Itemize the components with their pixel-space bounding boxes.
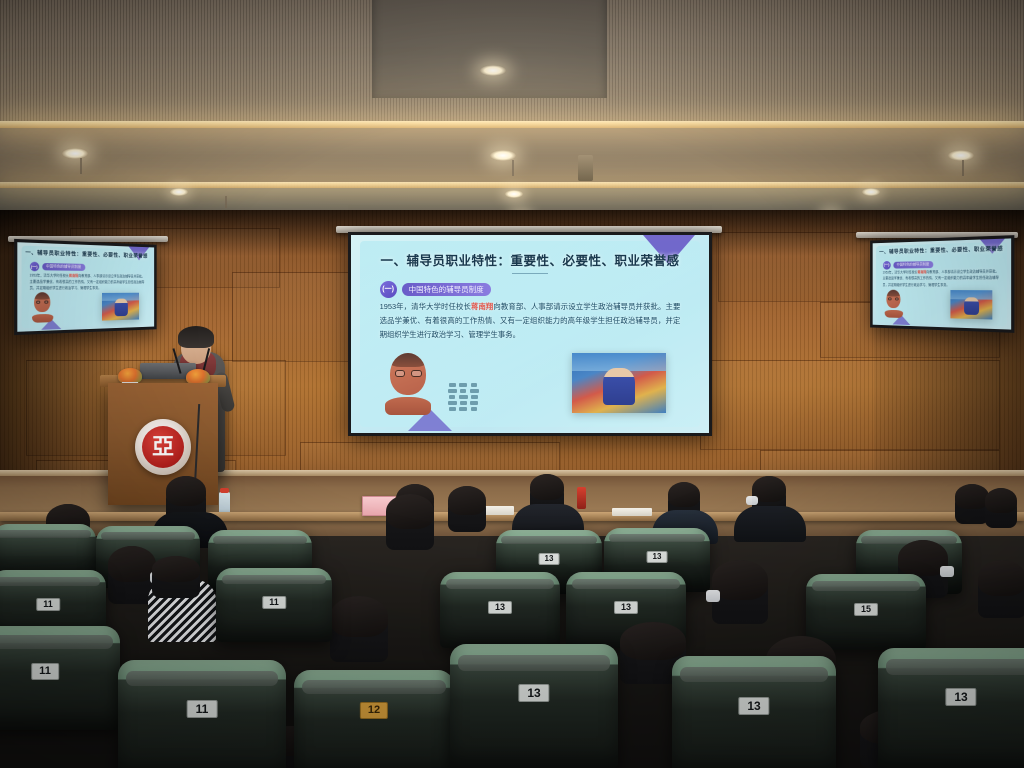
person-hair [386,494,434,529]
portrait-glasses-left [888,297,892,300]
seat-headrest [501,536,596,544]
slide-body-part1: 1953年，清华大学时任校长 [380,302,471,311]
portrait-glasses-right [44,301,49,304]
left-side-screen: 一、辅导员职业特性：重要性、必要性、职业荣誉感 (一) 中国特色的辅导员制度 1… [14,239,157,335]
portrait-head [34,293,50,313]
portrait-glasses-left [36,301,41,304]
seat-headrest [0,635,113,649]
calligraphy-column [470,383,479,411]
slide-section-number: (一) [380,281,397,298]
slide-section-label: 中国特色的辅导员制度 [402,283,491,296]
portrait-body [385,397,431,415]
slide-section-number: (一) [883,261,891,270]
slide-body-text: 1953年，清华大学时任校长蒋南翔向教育部、人事部请示设立学生政治辅导员并获批。… [380,300,681,341]
calligraphy-stroke [460,401,467,405]
audience-person [712,560,768,624]
seat-number-plate: 11 [31,663,59,680]
seat-number-plate: 12 [360,702,388,719]
calligraphy-stroke [471,395,478,399]
calligraphy-stroke [460,389,466,393]
calligraphy-column [459,383,468,411]
seat-headrest [0,530,91,538]
slide-body-part1: 1953年，清华大学时任校长 [883,271,918,275]
seat-number-plate: 13 [647,551,668,563]
slide-section-label: 中国特色的辅导员制度 [893,261,933,268]
photo-person [603,368,635,405]
portrait-hair [390,353,426,367]
audience-person [152,556,200,598]
ceiling [0,0,1024,232]
person-hair [620,622,686,660]
seat-number-plate: 13 [738,697,769,715]
slide-portrait-illustration [886,290,903,318]
seat-number-plate: 15 [854,603,878,616]
calligraphy-stroke [470,389,479,393]
audience-person [386,494,434,550]
podium-flower-left [118,368,142,384]
seat[interactable]: 13 [878,648,1024,768]
seat[interactable]: 12 [294,670,454,768]
seat-number-plate: 13 [518,684,549,702]
audience-person [955,484,989,524]
audience-person [978,560,1024,618]
slide-body-text: 1953年，清华大学时任校长蒋南翔向教育部、人事部请示设立学生政治辅导员并获批。… [30,272,145,291]
portrait-body [32,314,53,323]
calligraphy-stroke [448,389,457,393]
lecture-hall-scene: 一、辅导员职业特性：重要性、必要性、职业荣誉感 (一) 中国特色的辅导员制度 1… [0,0,1024,768]
slide-right: 一、辅导员职业特性：重要性、必要性、职业荣誉感 (一) 中国特色的辅导员制度 1… [873,238,1011,329]
person-hair [166,476,206,506]
portrait-hair [886,290,900,296]
seat-headrest [126,671,277,686]
person-hair [152,556,200,582]
seat-number-plate: 11 [36,598,60,611]
slide-heading: 一、辅导员职业特性：重要性、必要性、职业荣誉感 [351,250,709,269]
calligraphy-stroke [471,407,477,411]
audience-person [330,596,388,662]
seat-headrest [609,534,704,542]
right-side-screen: 一、辅导员职业特性：重要性、必要性、职业荣誉感 (一) 中国特色的辅导员制度 1… [870,235,1014,333]
calligraphy-stroke [459,395,468,399]
portrait-hair [34,293,50,300]
face-mask [706,590,720,602]
seat[interactable]: 13 [672,656,836,768]
seat-headrest [222,575,326,585]
seat-headrest [680,667,828,683]
slide-portrait-illustration [34,293,53,324]
person-hair [330,596,388,637]
seat-headrest [886,659,1024,675]
seat-headrest [446,579,554,589]
seat-headrest [101,532,195,540]
speaker-hair [178,326,214,348]
person-hair [668,482,700,507]
slide-main: 一、辅导员职业特性：重要性、必要性、职业荣誉感 (一) 中国特色的辅导员制度 1… [351,235,709,433]
seat[interactable]: 13 [450,644,618,768]
seat[interactable]: 15 [806,574,926,650]
slide-body-highlight: 蒋南翔 [471,302,493,311]
calligraphy-stroke [449,407,456,411]
photo-person [115,299,128,316]
face-mask [940,566,954,577]
slide-section-label: 中国特色的辅导员制度 [42,263,85,271]
portrait-glasses-right [411,370,422,377]
seat-number-plate: 11 [262,596,286,609]
slide-left: 一、辅导员职业特性：重要性、必要性、职业荣誉感 (一) 中国特色的辅导员制度 1… [17,242,154,332]
seat[interactable]: 13 [440,572,560,648]
portrait-glasses-left [395,370,406,377]
slide-calligraphy [448,383,479,411]
seat[interactable]: 11 [0,626,120,730]
slide-section-badge: (一) 中国特色的辅导员制度 [380,281,491,298]
portrait-glasses-right [895,297,899,300]
desk-paper [612,508,652,516]
portrait-head [886,290,900,308]
audience-person [448,486,486,532]
seat-number-plate: 13 [614,601,638,614]
slide-portrait-illustration [390,353,431,415]
emblem-inner-circle: 亞 [142,426,184,468]
seat-number-plate: 11 [187,700,218,718]
photo-person [964,297,978,315]
audience-person [985,488,1017,528]
slide-body-part1: 1953年，清华大学时任校长 [30,273,69,278]
person-hair [955,484,989,509]
calligraphy-column [448,383,457,411]
person-hair [985,488,1017,513]
seat-number-plate: 13 [488,601,512,614]
slide-heading-underline [512,273,548,274]
seat-headrest [0,577,100,587]
calligraphy-stroke [471,383,477,387]
calligraphy-stroke [459,407,467,411]
calligraphy-stroke [449,383,456,387]
seat-headrest [812,581,920,591]
calligraphy-stroke [470,401,478,405]
seat-headrest [572,579,680,589]
seat-headrest [458,655,609,671]
slide-body-highlight: 蒋南翔 [917,271,926,275]
slide-body-highlight: 蒋南翔 [69,273,78,277]
person-hair [712,560,768,600]
person-hair [108,546,156,582]
calligraphy-stroke [449,395,455,399]
desk-red-bottle [577,487,586,509]
person-hair [448,486,486,515]
slide-photo [951,290,993,319]
portrait-body [885,310,903,318]
ceiling-vignette [0,0,1024,232]
audience-shoulders [734,506,806,542]
slide-body-text: 1953年，清华大学时任校长蒋南翔向教育部、人事部请示设立学生政治辅导员并获批。… [883,269,999,288]
calligraphy-stroke [448,401,457,405]
face-mask [746,496,758,505]
main-projection-screen: 一、辅导员职业特性：重要性、必要性、职业荣誉感 (一) 中国特色的辅导员制度 1… [348,232,712,436]
slide-photo [102,292,139,320]
emblem-glyph: 亞 [152,436,174,458]
seat[interactable]: 11 [216,568,332,642]
portrait-head [390,353,426,395]
calligraphy-stroke [459,383,467,387]
slide-section-number: (一) [30,262,39,272]
water-bottle-cap [220,488,229,493]
podium-emblem: 亞 [135,419,191,475]
slide-photo [572,353,666,413]
seat-number-plate: 13 [539,553,560,565]
person-hair [530,474,564,500]
seat[interactable]: 11 [118,660,286,768]
seat-headrest [302,680,446,694]
person-hair [978,560,1024,596]
seat-number-plate: 13 [945,688,976,706]
seat-headrest [213,536,307,544]
